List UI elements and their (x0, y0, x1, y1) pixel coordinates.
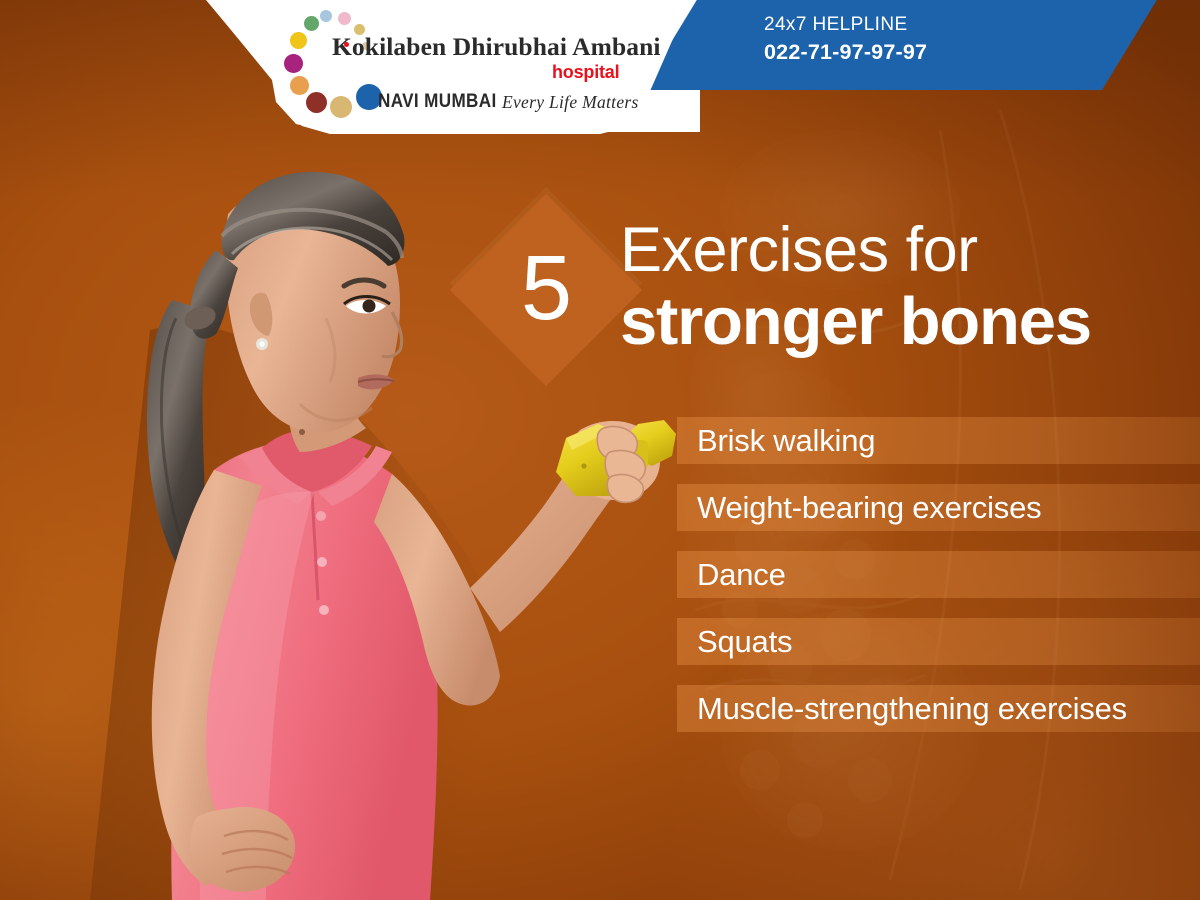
headline-line-2: stronger bones (620, 288, 1091, 355)
logo-wordmark: Kokilaben Dhirubhai Ambani (332, 32, 661, 62)
list-item: Brisk walking (677, 417, 1200, 464)
list-item: Muscle-strengthening exercises (677, 685, 1200, 732)
helpline-label: 24x7 HELPLINE (764, 14, 908, 36)
exercise-label: Muscle-strengthening exercises (677, 693, 1127, 724)
exercise-label: Brisk walking (677, 425, 875, 456)
helpline-number[interactable]: 022-71-97-97-97 (764, 40, 927, 65)
photo-woman-with-dumbbell (0, 0, 700, 900)
color-ring-icon (284, 10, 380, 116)
logo-city: NAVI MUMBAI (378, 91, 497, 113)
logo-tagline: Every Life Matters (502, 92, 639, 113)
headline-number: 5 (478, 222, 614, 358)
list-item: Dance (677, 551, 1200, 598)
list-item: Squats (677, 618, 1200, 665)
infographic-poster: 24x7 HELPLINE 022-71-97-97-97 Kokilaben … (0, 0, 1200, 900)
exercise-label: Dance (677, 559, 786, 590)
logo-hospital-word: hospital (552, 62, 619, 83)
headline-line-1: Exercises for (620, 219, 978, 282)
helpline-banner: 24x7 HELPLINE 022-71-97-97-97 (642, 0, 1158, 90)
exercise-list: Brisk walking Weight-bearing exercises D… (677, 417, 1200, 732)
exercise-label: Squats (677, 626, 792, 657)
exercise-label: Weight-bearing exercises (677, 492, 1041, 523)
hospital-logo[interactable]: Kokilaben Dhirubhai Ambani hospital NAVI… (284, 8, 674, 120)
list-item: Weight-bearing exercises (677, 484, 1200, 531)
